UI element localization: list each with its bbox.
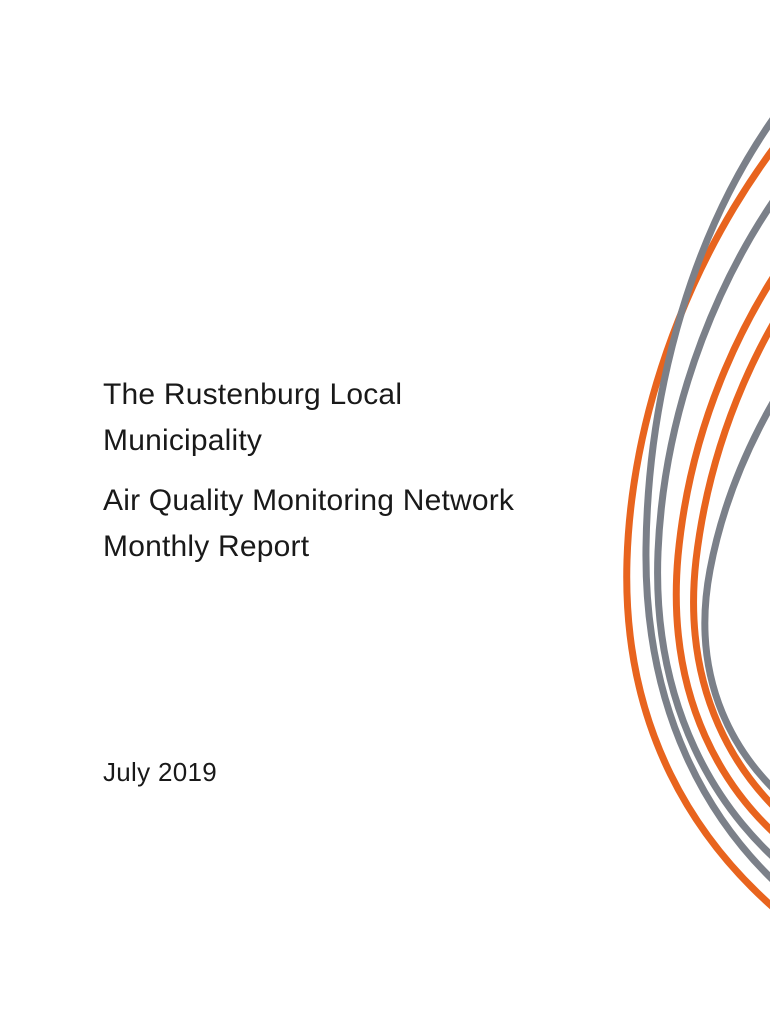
report-title-line-1: Air Quality Monitoring Network (103, 478, 603, 524)
decorative-arc-5 (694, 232, 770, 842)
organisation-title: The Rustenburg Local Municipality (103, 372, 603, 464)
cover-page: The Rustenburg Local Municipality Air Qu… (0, 0, 770, 1024)
report-date: July 2019 (103, 757, 217, 788)
decorative-arc-4 (676, 206, 770, 862)
decorative-arc-2 (646, 96, 770, 904)
decorative-arc-3 (658, 150, 770, 884)
report-title: Air Quality Monitoring Network Monthly R… (103, 478, 603, 570)
decorative-arc-6 (705, 300, 770, 818)
organisation-title-line-1: The Rustenburg Local (103, 372, 603, 418)
organisation-title-line-2: Municipality (103, 418, 603, 464)
cover-title-block: The Rustenburg Local Municipality Air Qu… (103, 372, 603, 570)
report-title-line-2: Monthly Report (103, 524, 603, 570)
cover-date-block: July 2019 (103, 757, 217, 788)
decorative-arc-1 (627, 108, 770, 934)
